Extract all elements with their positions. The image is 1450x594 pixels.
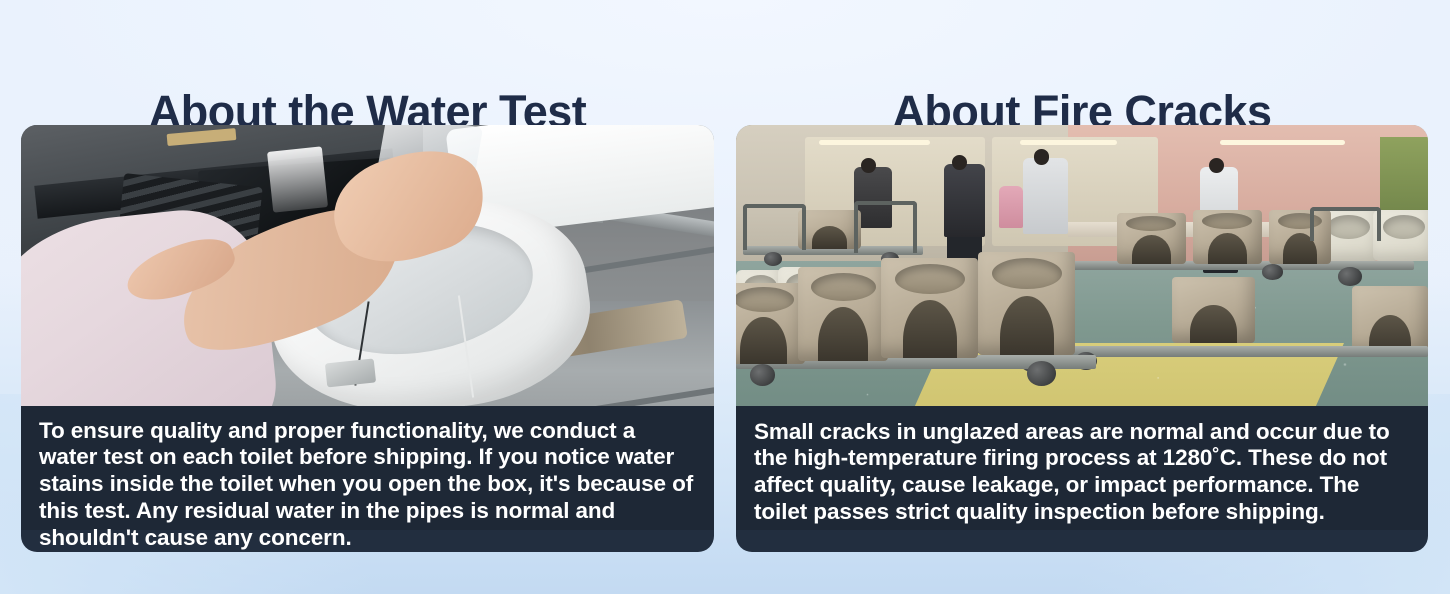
card-water-test: To ensure quality and proper functionali…: [21, 125, 714, 552]
glazed-bowl-2: [1373, 210, 1428, 262]
unglazed-body-front-2: [798, 267, 888, 361]
ceiling-light-1: [819, 140, 930, 145]
info-panels-stage: About the Water Test: [0, 0, 1450, 594]
panel-fire-cracks: About Fire Cracks: [736, 0, 1428, 594]
photo-water-test: [21, 125, 714, 428]
cart-wheel-front-1: [1027, 361, 1056, 385]
worker-pink-shirt: [999, 186, 1023, 228]
ceiling-light-2: [1020, 140, 1117, 145]
white-trim: [267, 147, 328, 213]
photo-fire-cracks: [736, 125, 1428, 428]
caption-fire-cracks: Small cracks in unglazed areas are norma…: [736, 406, 1428, 530]
cart-handle-small-2: [854, 201, 917, 253]
caption-water-test: To ensure quality and proper functionali…: [21, 406, 714, 530]
cart-handle-small-1: [743, 204, 806, 250]
unglazed-body-back-2: [1193, 210, 1262, 265]
unglazed-body-front-3: [881, 258, 978, 358]
unglazed-body-front-4: [978, 252, 1075, 355]
card-fire-cracks: Small cracks in unglazed areas are norma…: [736, 125, 1428, 552]
cart-wheel-back-1: [1262, 264, 1283, 279]
cart-wheel-small-1: [764, 252, 782, 266]
panel-water-test: About the Water Test: [21, 0, 714, 594]
unglazed-body-front-1: [736, 283, 805, 365]
worker-2: [944, 164, 986, 237]
cart-wheel-front-2: [750, 364, 775, 385]
unglazed-body-back-1: [1117, 213, 1186, 265]
unglazed-body-small: [798, 210, 860, 249]
cart-wheel-back-2: [1338, 267, 1362, 285]
worker-3: [1023, 158, 1068, 234]
unglazed-body-right-2: [1352, 286, 1428, 356]
cart-handle-back: [1310, 207, 1380, 241]
ceiling-light-3: [1220, 140, 1345, 145]
unglazed-body-right-1: [1172, 277, 1255, 344]
